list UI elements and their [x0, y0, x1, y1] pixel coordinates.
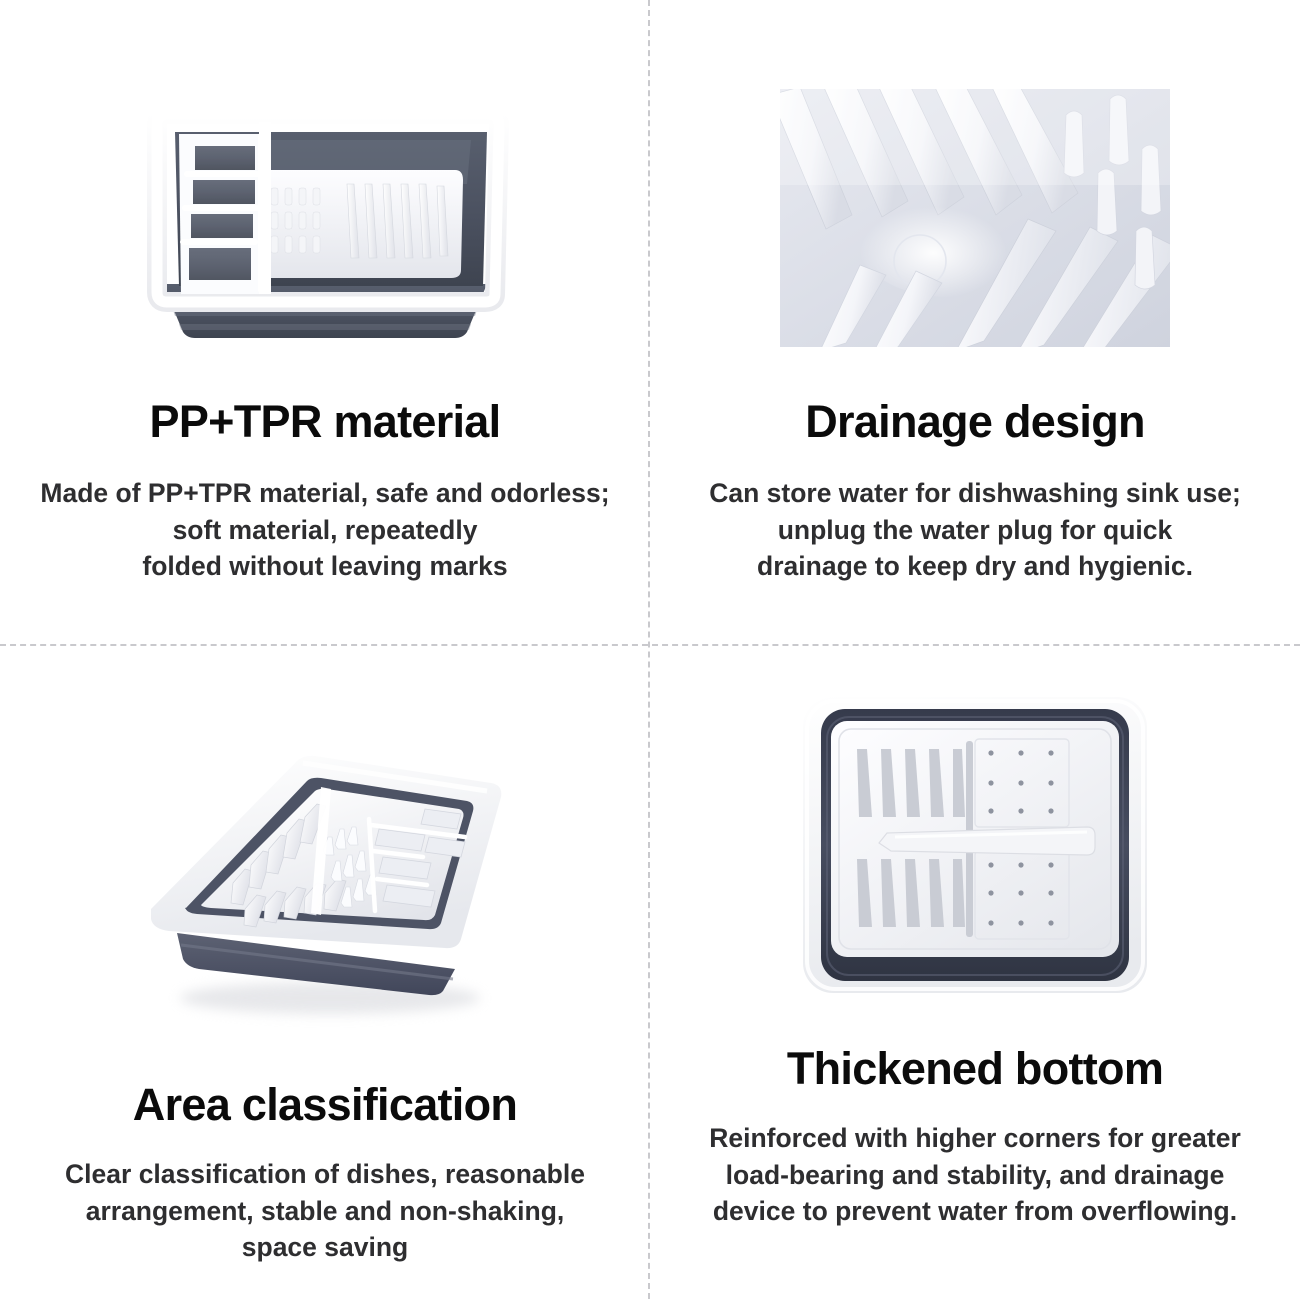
feature-heading: Drainage design — [805, 398, 1145, 445]
feature-grid: PP+TPR material Made of PP+TPR material,… — [0, 0, 1300, 1299]
vertical-divider — [648, 0, 650, 1299]
rack-bottom-view-illustration — [795, 687, 1155, 1007]
dish-rack-collapsed-illustration — [125, 733, 525, 1033]
drainage-fins-macro-illustration — [780, 89, 1170, 347]
feature-card-drainage-design: Drainage design Can store water for dish… — [650, 0, 1300, 645]
feature-body: Can store water for dishwashing sink use… — [709, 475, 1241, 585]
feature-body: Made of PP+TPR material, safe and odorle… — [40, 475, 609, 585]
feature-heading: Thickened bottom — [787, 1045, 1163, 1092]
drainage-fins-macro-photo — [650, 0, 1300, 374]
feature-body: Clear classification of dishes, reasonab… — [65, 1156, 585, 1266]
feature-card-area-classification: Area classification Clear classification… — [0, 645, 650, 1299]
feature-card-pp-tpr-material: PP+TPR material Made of PP+TPR material,… — [0, 0, 650, 645]
collapsible-dish-rack-open-photo — [0, 0, 650, 374]
feature-card-thickened-bottom: Thickened bottom Reinforced with higher … — [650, 645, 1300, 1299]
rack-bottom-view-photo — [650, 645, 1300, 1027]
feature-heading: PP+TPR material — [150, 398, 501, 445]
feature-heading: Area classification — [133, 1081, 517, 1128]
feature-body: Reinforced with higher corners for great… — [709, 1120, 1241, 1230]
dish-rack-open-illustration — [115, 88, 535, 348]
horizontal-divider — [0, 644, 1300, 646]
collapsed-dish-rack-angled-photo — [0, 645, 650, 1063]
